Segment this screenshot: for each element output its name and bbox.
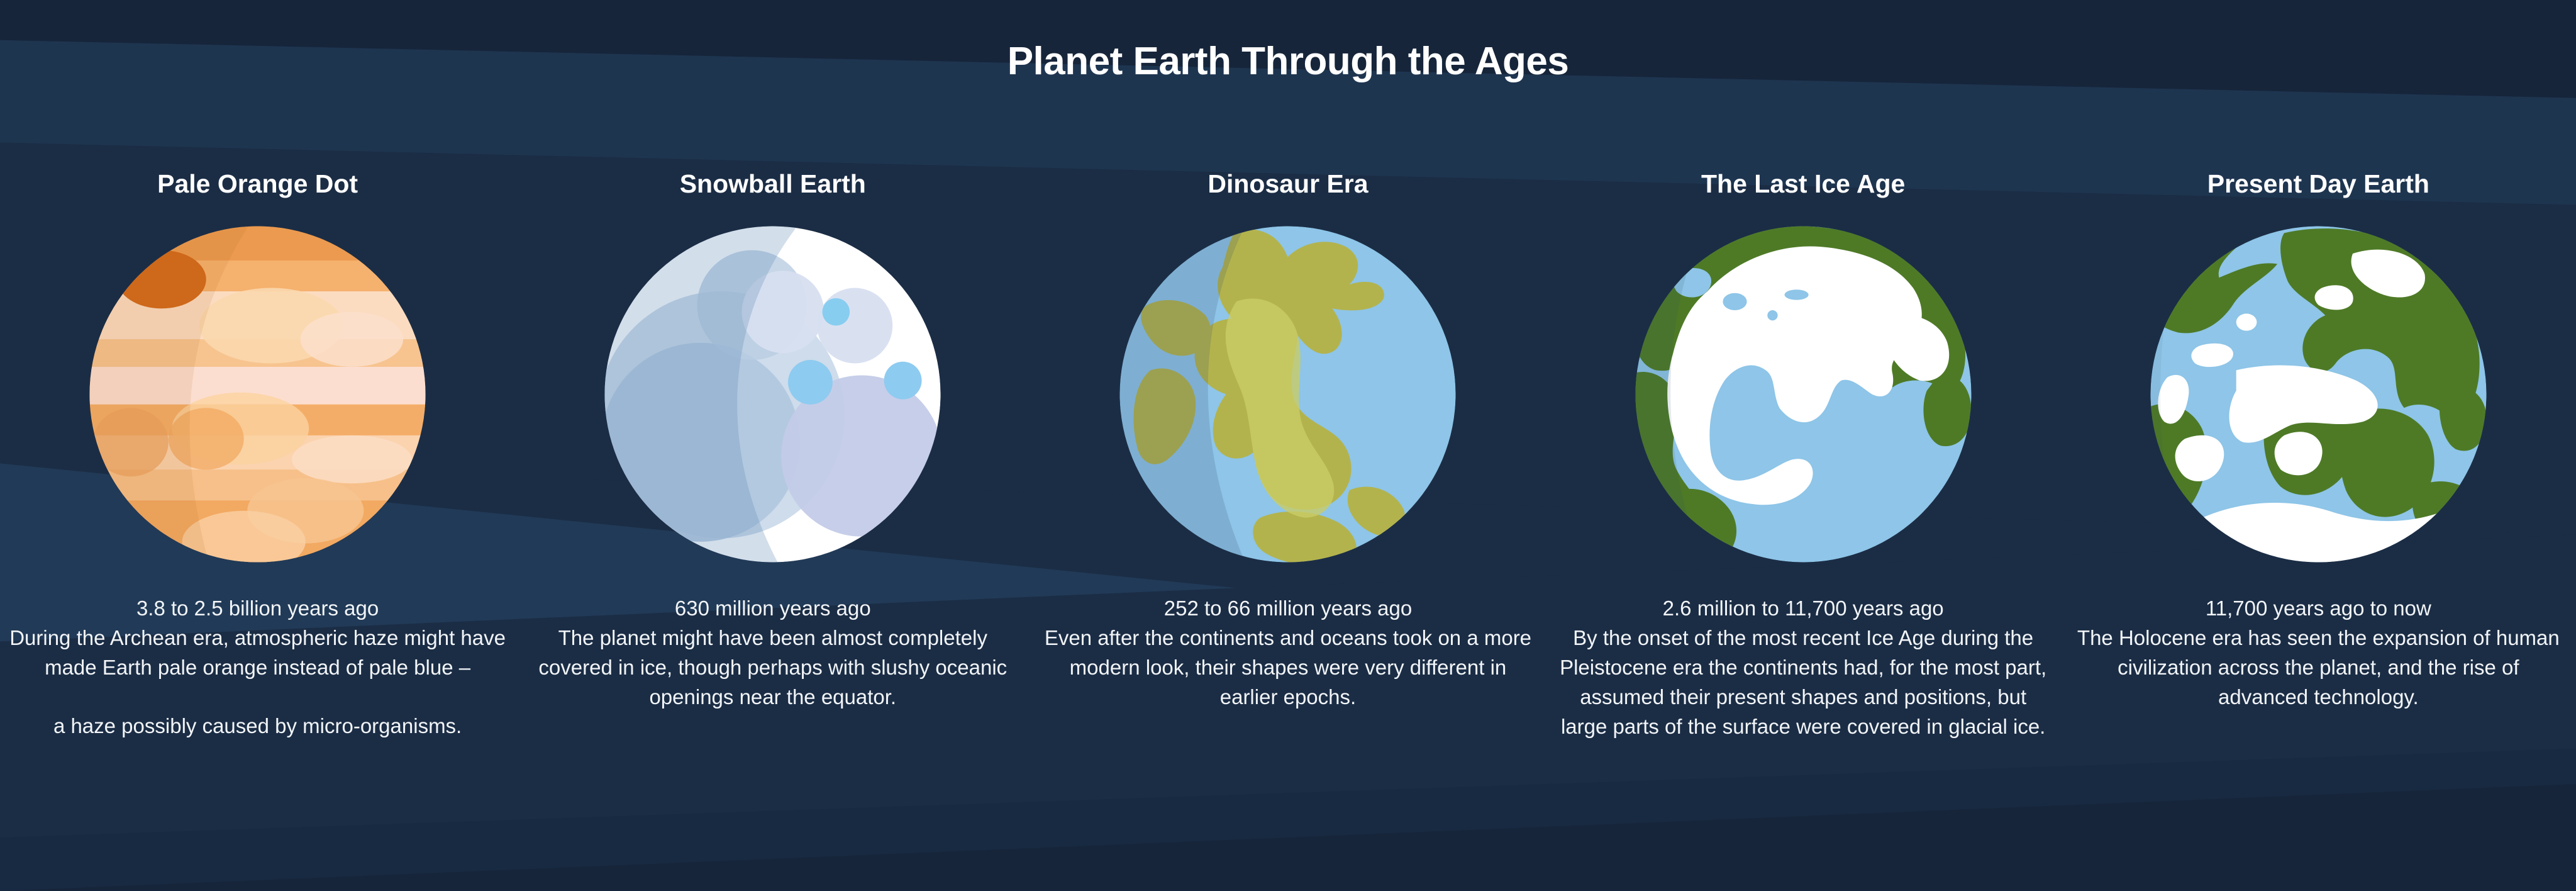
panel-dinosaur-era: Dinosaur Era [1030, 164, 1545, 741]
panel-caption: 630 million years ago The planet might h… [525, 593, 1021, 712]
last-ice-age-globe-icon [1632, 223, 1975, 566]
panel-row: Pale Orange Dot [0, 164, 2576, 741]
caption-era: 11,700 years ago to now [2070, 593, 2567, 623]
snowball-earth-globe-icon [601, 223, 944, 566]
present-day-earth-globe-icon [2147, 223, 2490, 566]
caption-era: 2.6 million to 11,700 years ago [1555, 593, 2051, 623]
caption-description: During the Archean era, atmospheric haze… [9, 623, 506, 682]
caption-era: 252 to 66 million years ago [1040, 593, 1536, 623]
panel-present-day-earth: Present Day Earth [2061, 164, 2576, 741]
panel-heading: Dinosaur Era [1207, 164, 1368, 204]
panel-heading: The Last Ice Age [1701, 164, 1905, 204]
panel-caption: 252 to 66 million years ago Even after t… [1040, 593, 1536, 712]
panel-caption: 11,700 years ago to now The Holocene era… [2070, 593, 2567, 712]
caption-description: The Holocene era has seen the expansion … [2070, 623, 2567, 712]
panel-snowball-earth: Snowball Earth [515, 164, 1030, 741]
caption-description: By the onset of the most recent Ice Age … [1555, 623, 2051, 741]
infographic-page: Planet Earth Through the Ages Pale Orang… [0, 0, 2576, 891]
panel-caption: 3.8 to 2.5 billion years ago During the … [9, 593, 506, 741]
panel-heading: Pale Orange Dot [157, 164, 358, 204]
dinosaur-era-globe-icon [1116, 223, 1459, 566]
panel-heading: Present Day Earth [2207, 164, 2429, 204]
caption-extra: a haze possibly caused by micro-organism… [9, 711, 506, 741]
caption-era: 630 million years ago [525, 593, 1021, 623]
panel-heading: Snowball Earth [680, 164, 866, 204]
panel-caption: 2.6 million to 11,700 years ago By the o… [1555, 593, 2051, 741]
pale-orange-dot-globe-icon [86, 223, 429, 566]
panel-the-last-ice-age: The Last Ice Age [1546, 164, 2061, 741]
caption-description: Even after the continents and oceans too… [1040, 623, 1536, 712]
caption-description: The planet might have been almost comple… [525, 623, 1021, 712]
panel-pale-orange-dot: Pale Orange Dot [0, 164, 515, 741]
page-title: Planet Earth Through the Ages [0, 39, 2576, 84]
caption-era: 3.8 to 2.5 billion years ago [9, 593, 506, 623]
